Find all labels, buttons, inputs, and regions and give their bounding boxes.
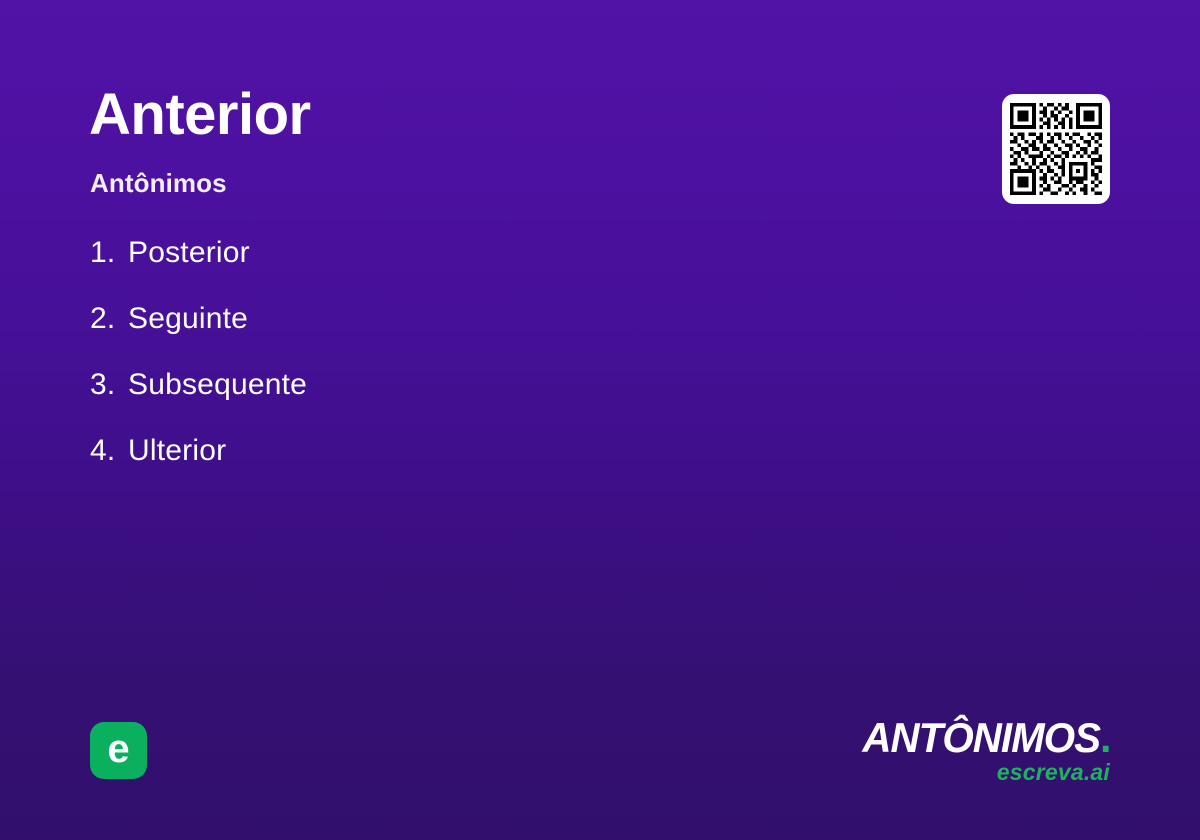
app-mark-letter: e <box>107 729 129 769</box>
escreva-e-logo-icon[interactable]: e <box>90 722 147 779</box>
list-item-word: Subsequente <box>128 368 307 402</box>
list-item: 1. Posterior <box>90 236 850 302</box>
list-item: 4. Ulterior <box>90 434 850 500</box>
antonyms-card: Anterior Antônimos 1. Posterior 2. Segui… <box>0 0 1200 840</box>
page-title: Anterior <box>89 85 311 146</box>
brand-dot: . <box>1100 714 1110 761</box>
qr-code-icon[interactable] <box>1002 94 1110 204</box>
list-item-index: 4. <box>90 434 128 468</box>
brand-name: ANTÔNIMOS. <box>862 718 1110 758</box>
list-item-index: 3. <box>90 368 128 402</box>
antonyms-list: 1. Posterior 2. Seguinte 3. Subsequente … <box>90 236 850 500</box>
list-item-word: Seguinte <box>128 302 248 336</box>
brand-name-text: ANTÔNIMOS <box>862 714 1100 761</box>
list-item-word: Ulterior <box>128 434 226 468</box>
list-item: 2. Seguinte <box>90 302 850 368</box>
page-subtitle: Antônimos <box>90 168 227 199</box>
list-item-word: Posterior <box>128 236 250 270</box>
list-item-index: 1. <box>90 236 128 270</box>
list-item: 3. Subsequente <box>90 368 850 434</box>
brand-site: escreva.ai <box>852 761 1110 784</box>
brand-lockup: ANTÔNIMOS. escreva.ai <box>852 718 1110 784</box>
list-item-index: 2. <box>90 302 128 336</box>
